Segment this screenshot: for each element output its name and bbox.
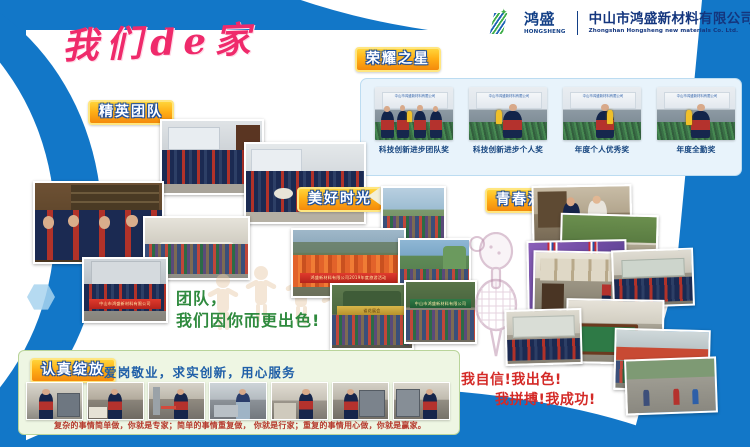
company-name-en: Zhongshan Hongsheng new materials Co. Lt… [589, 28, 750, 34]
company-name-cn: 中山市鸿盛新材料有限公司 [589, 12, 750, 26]
work-photo [271, 382, 328, 420]
good-times-photo: 省花展会 [330, 283, 414, 350]
honor-award-item: 中山市鸿盛新材料有限公司 年度个人优秀奖 [563, 87, 641, 155]
callout-tail [368, 186, 382, 206]
work-photo [393, 382, 450, 420]
page-title: 我们de家 [61, 11, 259, 70]
pingpong-ball-icon [467, 232, 487, 256]
award-photo: 中山市鸿盛新材料有限公司 [657, 87, 735, 140]
work-photo [148, 382, 205, 420]
elite-photo: 中山市鸿盛新材料有限公司 [82, 257, 168, 323]
work-photo [26, 382, 83, 420]
honor-award-item: 中山市鸿盛新材料有限公司 科技创新进步团队奖 [375, 87, 453, 155]
team-slogan-line2: 我们因你而更出色! [176, 311, 320, 330]
photo-banner-text: 中山市鸿盛新材料有限公司 [410, 299, 471, 308]
honor-award-item: 中山市鸿盛新材料有限公司 年度全勤奖 [657, 87, 735, 155]
work-photo-strip [26, 382, 450, 418]
photo-banner-text: 中山市鸿盛新材料有限公司 [89, 299, 161, 308]
honor-award-row: 中山市鸿盛新材料有限公司 科技创新进步团队奖 中山市鸿盛新材料有限公司 [361, 79, 741, 155]
award-caption: 年度个人优秀奖 [563, 144, 641, 155]
work-caption: 复杂的事情简单做，你就是专家；简单的事情重复做， 你就是行家；重复的事情用心做，… [28, 420, 452, 431]
work-slogan: 爱岗敬业，求实创新，用心服务 [104, 362, 296, 381]
hongsheng-logo-icon: ✦ [492, 10, 518, 36]
work-photo [209, 382, 266, 420]
award-photo: 中山市鸿盛新材料有限公司 [563, 87, 641, 140]
company-logo: ✦ 鸿盛 HONGSHENG 中山市鸿盛新材料有限公司 Zhongshan Ho… [492, 10, 750, 36]
award-caption: 科技创新进步个人奖 [469, 144, 547, 155]
award-photo: 中山市鸿盛新材料有限公司 [375, 87, 453, 140]
honor-award-item: 中山市鸿盛新材料有限公司 科技创新进步个人奖 [469, 87, 547, 155]
work-photo [332, 382, 389, 420]
youth-photo [504, 308, 582, 366]
red-slogan-line1: 我自信!我出色! [461, 372, 562, 388]
team-slogan-line1: 团队， [176, 289, 227, 308]
work-photo [87, 382, 144, 420]
award-caption: 科技创新进步团队奖 [375, 144, 453, 155]
poster-canvas: 我们de家 ✦ 鸿盛 HONGSHENG 中山市鸿盛新材料有限公司 Zhongs… [0, 0, 750, 447]
section-badge-honor: 荣耀之星 [355, 47, 441, 72]
award-caption: 年度全勤奖 [657, 144, 735, 155]
youth-photo [624, 356, 718, 415]
logo-divider [577, 11, 578, 35]
red-slogan-line2: 我拼搏!我成功! [461, 390, 596, 410]
photo-banner-text: 省花展会 [337, 306, 407, 315]
logo-mark-cn: 鸿盛 [524, 12, 566, 27]
logo-mark-en: HONGSHENG [524, 29, 566, 35]
award-photo: 中山市鸿盛新材料有限公司 [469, 87, 547, 140]
confidence-slogan: 我自信!我出色! 我拼搏!我成功! [461, 370, 596, 411]
honor-panel: 中山市鸿盛新材料有限公司 科技创新进步团队奖 中山市鸿盛新材料有限公司 [360, 78, 742, 176]
wall-sign-text: 中山市鸿盛新材料有限公司 [382, 92, 448, 109]
photo-banner-text: 鸿盛新材料有限公司2019年度旅游活动 [300, 273, 398, 283]
good-times-photo: 中山市鸿盛新材料有限公司 [404, 280, 477, 344]
